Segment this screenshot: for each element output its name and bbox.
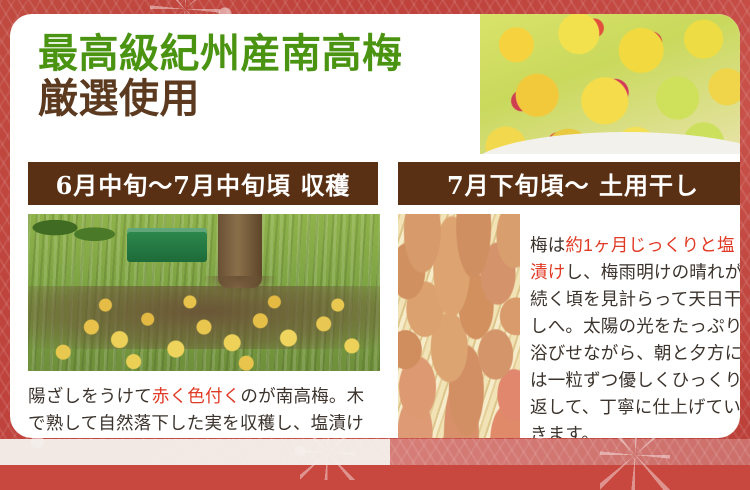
title-line-2: 厳選使用 (38, 77, 508, 122)
background-bottom-band (0, 439, 750, 465)
section-header-drying: 7月下旬頃〜 土用干し (398, 162, 740, 205)
section-drying-body: 梅は約1ヶ月じっくりと塩漬けし、梅雨明けの晴れが続く頃を見計らって天日干しへ。太… (530, 232, 740, 439)
text-run: 梅は (530, 235, 565, 255)
title-line-1: 最高級紀州産南高梅 (38, 32, 508, 75)
text-run: 陽ざしをうけて (28, 386, 152, 406)
section-drying: 梅は約1ヶ月じっくりと塩漬けし、梅雨明けの晴れが続く頃を見計らって天日干しへ。太… (398, 214, 740, 438)
orchard-fallen-ume (28, 214, 380, 371)
drying-umeboshi (398, 214, 520, 438)
photo-drying-ume (398, 214, 520, 438)
content-card: 最高級紀州産南高梅 厳選使用 6月中旬〜7月中旬頃 収穫 7月下旬頃〜 土用干し… (10, 14, 740, 438)
page-title: 最高級紀州産南高梅 厳選使用 (38, 32, 508, 122)
section-harvest: 陽ざしをうけて赤く色付くのが南高梅。木で熟して自然落下した実を収穫し、塩漬けして… (28, 214, 380, 438)
section-header-harvest-label: 6月中旬〜7月中旬頃 収穫 (56, 166, 351, 201)
section-harvest-body: 陽ざしをうけて赤く色付くのが南高梅。木で熟して自然落下した実を収穫し、塩漬けして… (28, 383, 380, 438)
section-header-harvest: 6月中旬〜7月中旬頃 収穫 (28, 162, 378, 205)
text-run-highlight: 赤く色付く (152, 386, 241, 406)
photo-orchard (28, 214, 380, 371)
section-header-drying-label: 7月下旬頃〜 土用干し (447, 166, 699, 201)
text-run: し、梅雨明けの晴れが続く頃を見計らって天日干しへ。太陽の光をたっぷり浴びせながら… (530, 262, 740, 438)
hero-photo-fresh-ume (480, 14, 740, 154)
